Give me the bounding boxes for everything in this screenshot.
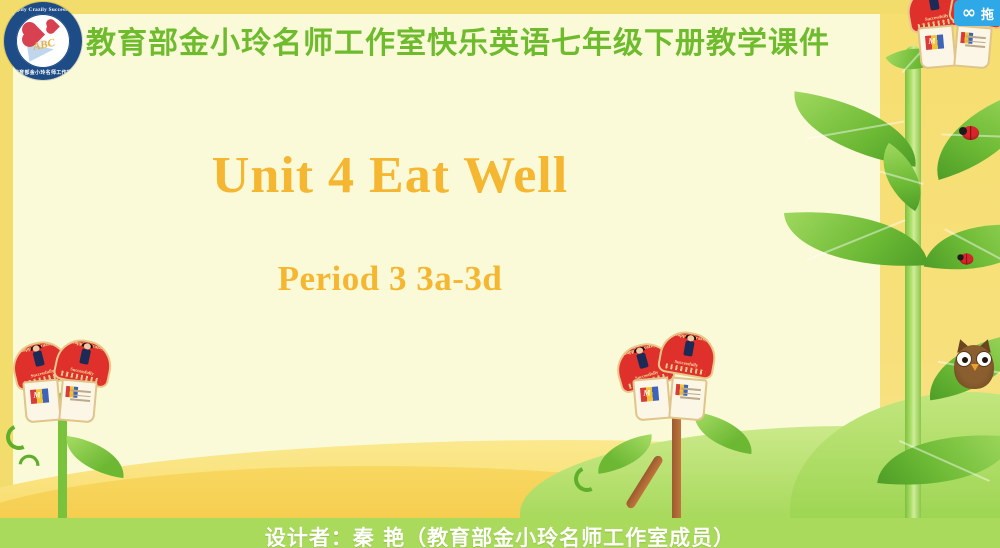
- open-book-icon: M: [24, 380, 96, 422]
- book-letter: M: [928, 36, 936, 46]
- open-book-icon: M: [634, 378, 706, 420]
- flag-icon: M: [30, 388, 49, 404]
- petal-figure: [32, 350, 44, 367]
- petal-figure: [636, 352, 649, 369]
- header: 教育部金小玲名师工作室快乐英语七年级下册教学课件: [86, 18, 866, 62]
- petal-figure: [79, 348, 91, 365]
- book-page-left: M: [22, 379, 62, 424]
- owl-eye-left: [956, 351, 972, 367]
- owl-beak: [971, 364, 979, 371]
- page-title: Unit 4 Eat Well: [0, 146, 780, 205]
- flag-icon: M: [640, 386, 659, 402]
- book-page-right: [58, 379, 98, 424]
- book-page-left: M: [917, 25, 957, 70]
- book-page-left: M: [632, 377, 672, 422]
- book-letter: M: [33, 390, 41, 400]
- flag-icon: M: [925, 34, 944, 50]
- flower-petal: Happily Crazily Successfully: [657, 327, 720, 380]
- infinity-icon: ∞: [962, 5, 976, 22]
- owl-icon: [952, 335, 996, 391]
- logo-inner-circle: ABC: [16, 14, 70, 68]
- book-text-lines: [70, 389, 91, 404]
- footer-bar: 设计者：秦 艳（教育部金小玲名师工作室成员）: [0, 518, 1000, 548]
- header-title: 教育部金小玲名师工作室快乐英语七年级下册教学课件: [86, 18, 830, 62]
- logo-arc-top-text: Happily Crazily Successfully: [4, 7, 82, 13]
- top-yellow-band: [0, 0, 1000, 14]
- open-book-icon: M: [919, 26, 991, 68]
- book-text-lines: [965, 35, 986, 50]
- page-subtitle: Period 3 3a-3d: [0, 259, 780, 299]
- flower-left: Happily Crazily Successfully Happily Cra…: [6, 336, 126, 456]
- heart-icon-small: [47, 20, 60, 33]
- ladybug-icon: [962, 126, 979, 140]
- book-text-lines: [680, 387, 701, 402]
- workshop-logo: Happily Crazily Successfully 教育部金小玲名师工作室…: [4, 2, 82, 80]
- book-letter: M: [643, 388, 651, 398]
- flower-middle: Happily Crazily Successfully Happily Cra…: [612, 330, 732, 450]
- book-page-right: [668, 377, 708, 422]
- ladybug-icon: [960, 253, 974, 264]
- book-page-right: [953, 25, 993, 70]
- badge-label: 拖: [981, 4, 994, 23]
- petal-figure: [928, 0, 939, 11]
- petal-figure: [683, 340, 694, 356]
- slide-canvas: Happily Crazily Successfully Happily Cra…: [0, 0, 1000, 548]
- infinity-badge[interactable]: ∞ 拖: [954, 0, 1000, 26]
- logo-arc-bottom-text: 教育部金小玲名师工作室: [4, 69, 82, 76]
- footer-designer-text: 设计者：秦 艳（教育部金小玲名师工作室成员）: [265, 522, 735, 548]
